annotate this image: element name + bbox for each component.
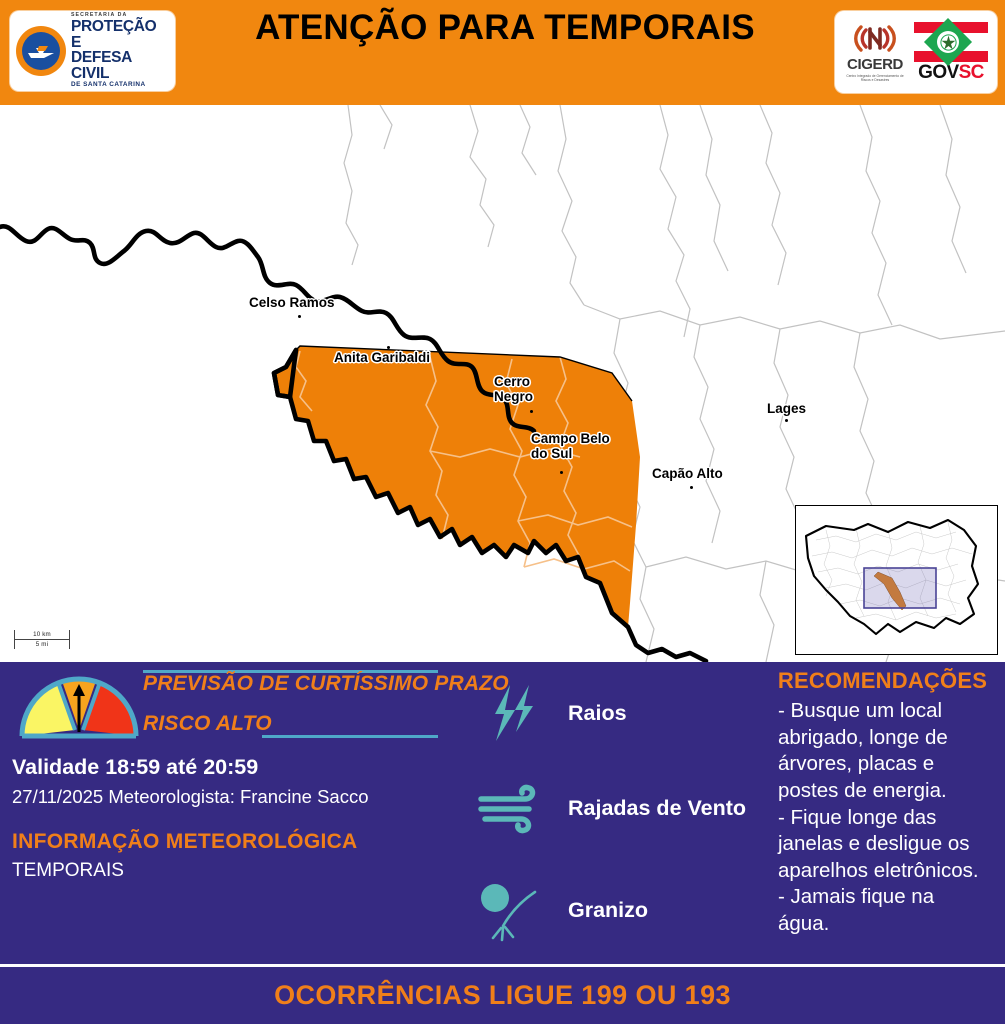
hazard-label: Raios: [568, 701, 627, 726]
page-title: ATENÇÃO PARA TEMPORAIS: [195, 8, 815, 47]
risk-gauge: [18, 674, 140, 740]
defesa-civil-emblem-icon: [16, 26, 66, 76]
rule-bottom: [262, 735, 438, 738]
city-label-celso-ramos: Celso Ramos: [249, 296, 335, 311]
defesa-civil-logo: SECRETARIA DA PROTEÇÃO E DEFESA CIVIL DE…: [10, 11, 175, 91]
logo-line1: PROTEÇÃO E: [71, 19, 169, 50]
footer-bar: OCORRÊNCIAS LIGUE 199 OU 193: [0, 967, 1005, 1024]
govsc-logo: GOVSC: [912, 22, 990, 82]
lightning-icon: [470, 682, 556, 744]
cigerd-subtitle: Centro Integrado de Gerenciamento de Ris…: [842, 74, 908, 82]
meteo-info-heading: INFORMAÇÃO METEOROLÓGICA: [12, 830, 358, 854]
cigerd-wave-icon: [842, 22, 908, 56]
cigerd-logo: CIGERD Centro Integrado de Gerenciamento…: [842, 22, 908, 82]
city-label-anita-garibaldi: Anita Garibaldi: [334, 351, 430, 366]
hazard-granizo: Granizo: [470, 878, 648, 942]
city-label-campo-belo-do-sul: Campo Belo do Sul: [531, 432, 610, 461]
inset-highlight-rect: [864, 568, 936, 608]
santa-catarina-flag-icon: [914, 22, 988, 62]
city-label-cerro-negro: Cerro Negro: [494, 375, 533, 404]
emergency-phone-text: OCORRÊNCIAS LIGUE 199 OU 193: [274, 980, 731, 1011]
hazard-raios: Raios: [470, 682, 627, 744]
header-bar: SECRETARIA DA PROTEÇÃO E DEFESA CIVIL DE…: [0, 0, 1005, 105]
recommendations-heading: RECOMENDAÇÕES: [760, 668, 1005, 694]
cigerd-name: CIGERD: [842, 57, 908, 72]
date-meteorologist: 27/11/2025 Meteorologista: Francine Sacc…: [12, 786, 369, 808]
hazard-rajadas-de-vento: Rajadas de Vento: [470, 782, 746, 834]
hazard-label: Rajadas de Vento: [568, 796, 746, 821]
logo-line3: DE SANTA CATARINA: [71, 82, 169, 88]
alert-infographic: SECRETARIA DA PROTEÇÃO E DEFESA CIVIL DE…: [0, 0, 1005, 1024]
recommendations-body: - Busque um local abrigado, longe de árv…: [778, 698, 990, 938]
hail-icon: [470, 878, 556, 942]
risk-level-label: RISCO ALTO: [143, 712, 272, 736]
hazard-label: Granizo: [568, 898, 648, 923]
alert-map[interactable]: Celso Ramos Anita Garibaldi Cerro Negro …: [0, 105, 1005, 662]
scale-km: 10 km: [15, 631, 69, 638]
meteo-info-value: TEMPORAIS: [12, 860, 124, 882]
forecast-type-label: PREVISÃO DE CURTÍSSIMO PRAZO: [143, 672, 509, 696]
wind-icon: [470, 782, 556, 834]
scale-mi: 5 mi: [15, 641, 69, 648]
city-label-capao-alto: Capão Alto: [652, 467, 723, 482]
gov-suffix: SC: [959, 62, 984, 83]
validity-period: Validade 18:59 até 20:59: [12, 755, 258, 780]
city-label-lages: Lages: [767, 402, 806, 417]
govsc-name: GOVSC: [912, 63, 990, 82]
alert-region-polygon: [274, 346, 640, 627]
gov-prefix: GOV: [918, 62, 958, 83]
map-scale-bar: 10 km 5 mi: [14, 630, 70, 649]
partner-logos: CIGERD Centro Integrado de Gerenciamento…: [835, 11, 997, 93]
inset-locator-map[interactable]: [795, 505, 998, 655]
logo-line2: DEFESA CIVIL: [71, 50, 169, 81]
